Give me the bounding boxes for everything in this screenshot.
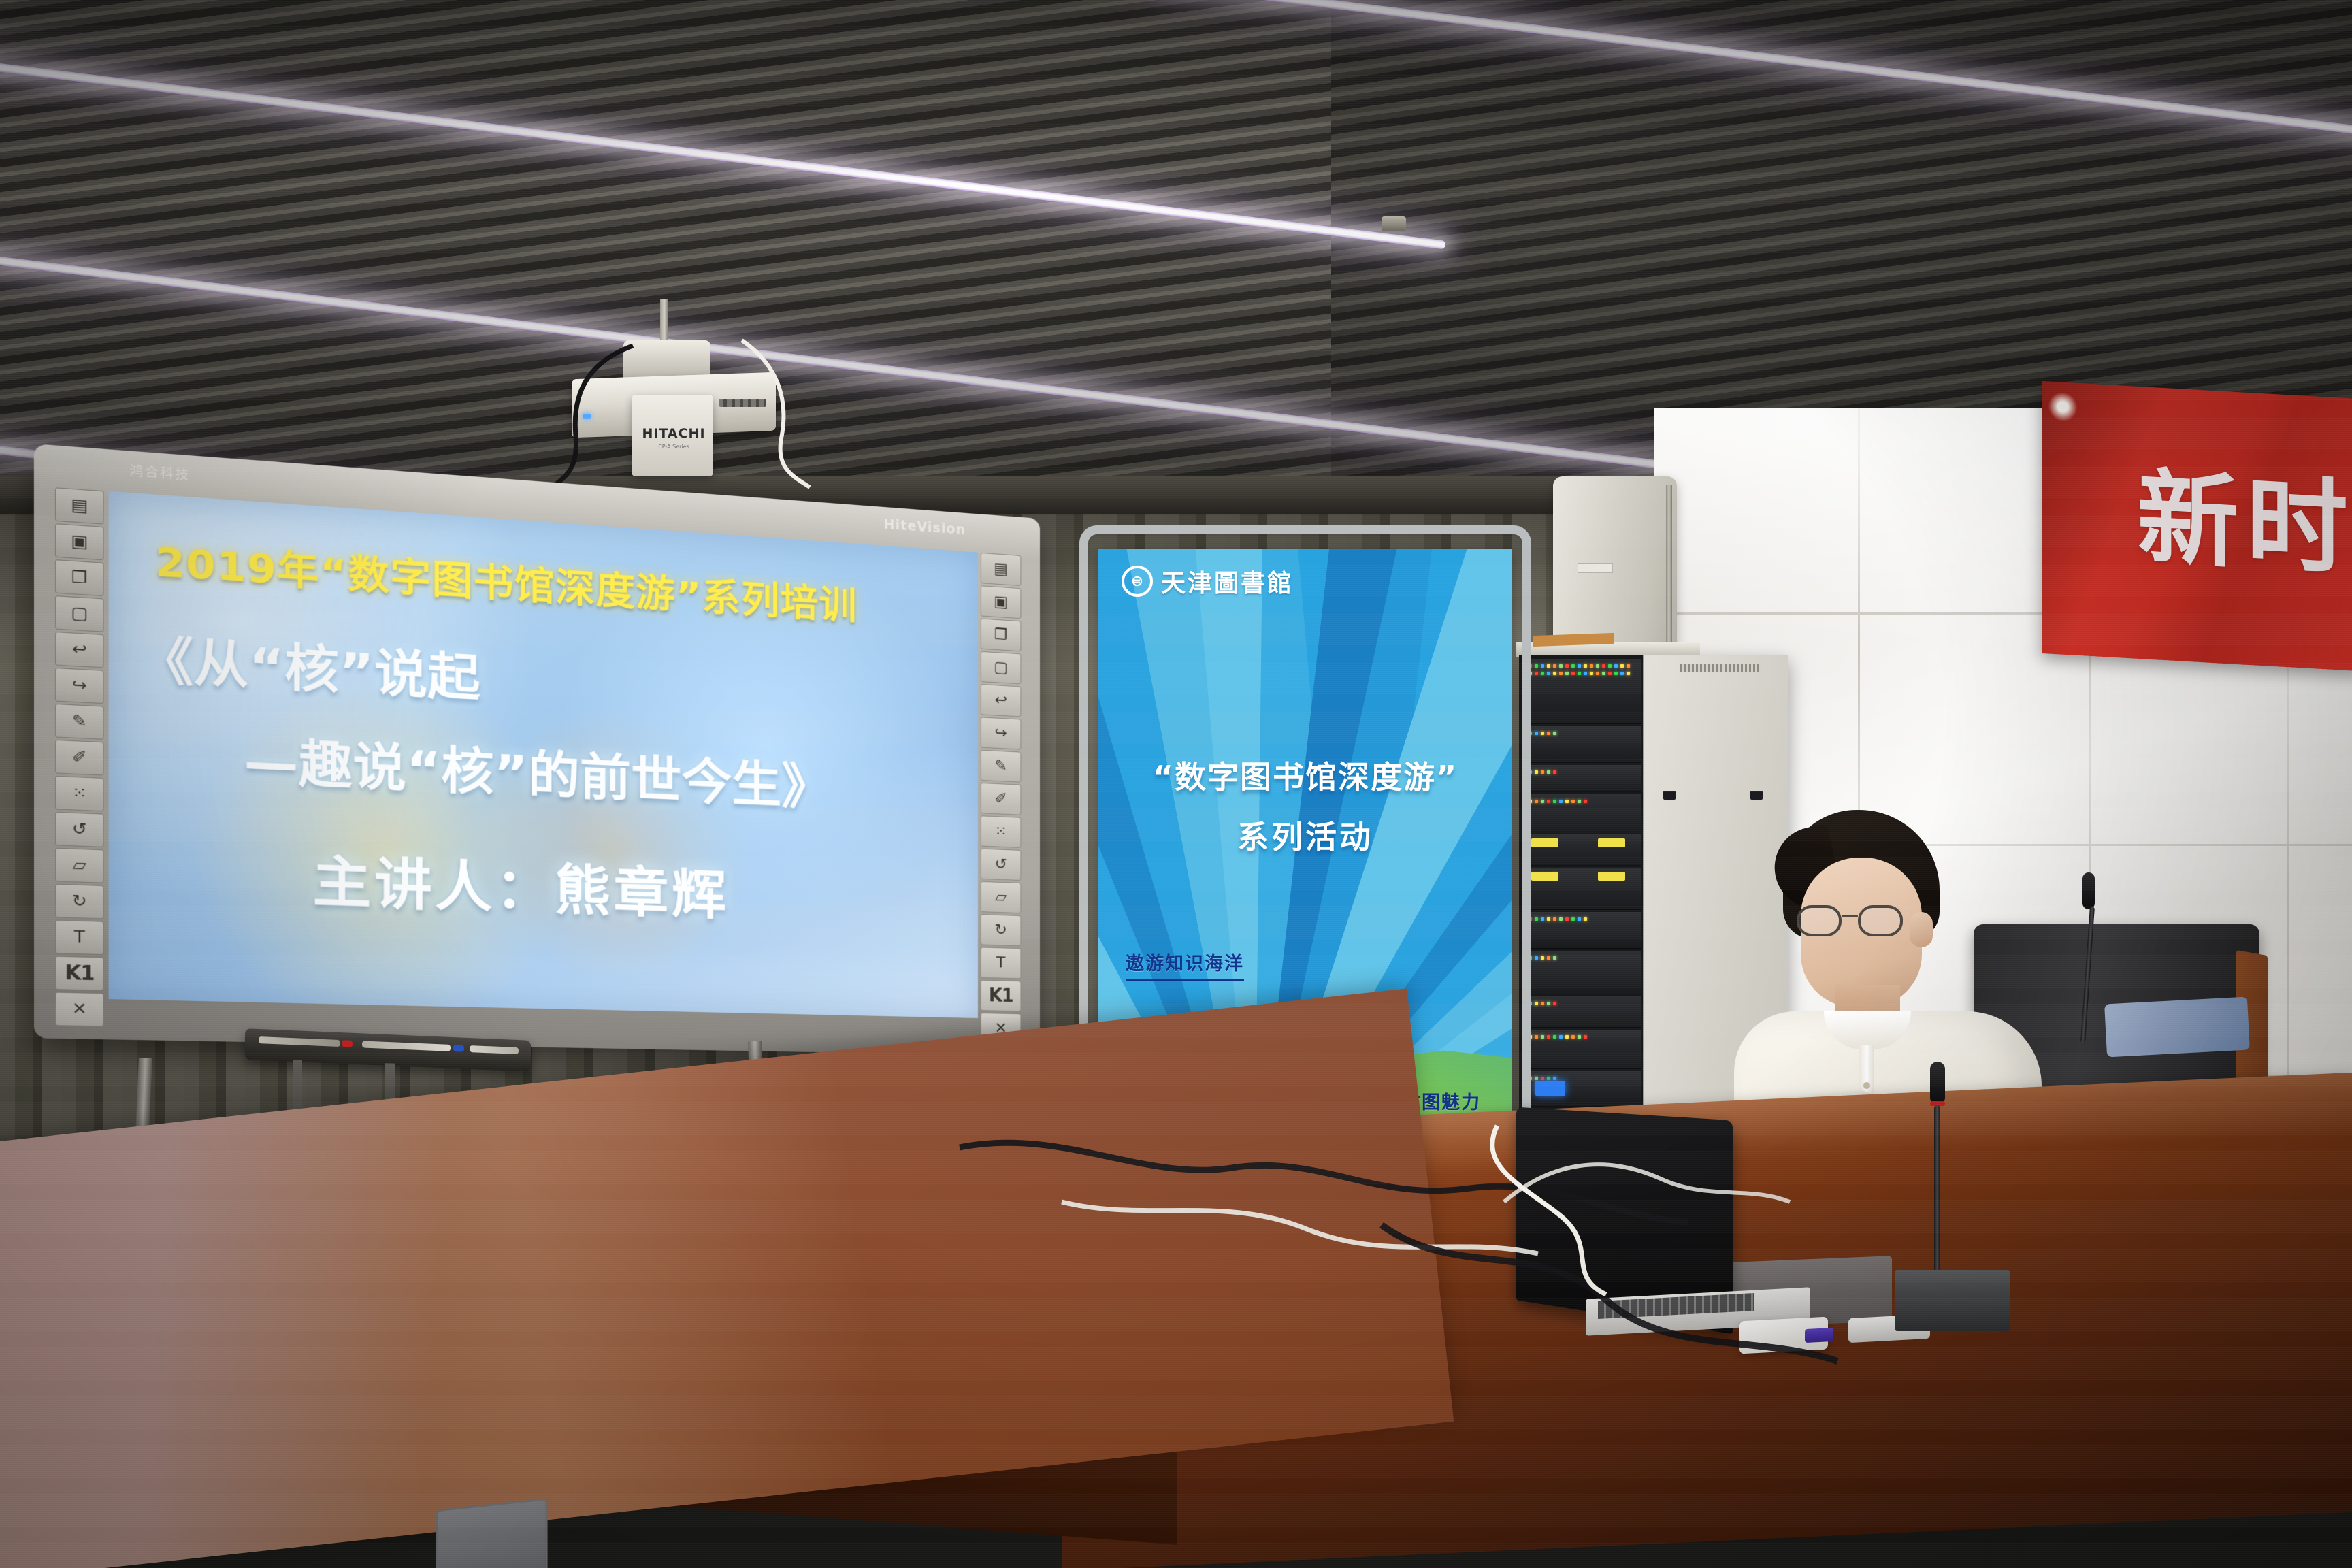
next-page-icon[interactable]: ↪	[55, 668, 103, 704]
rack-status-led	[1608, 672, 1612, 675]
rack-status-led	[1553, 732, 1556, 735]
rack-status-led	[1553, 1035, 1556, 1039]
rack-label-tag	[1531, 872, 1558, 881]
whiteboard-brand-right: HiteVision	[883, 517, 966, 538]
pen-icon[interactable]: ✐	[981, 783, 1021, 815]
text-select-icon[interactable]: T	[55, 920, 103, 955]
copy-page-icon[interactable]: ❐	[981, 618, 1021, 651]
rack-status-led	[1541, 664, 1544, 668]
rack-status-led	[1578, 672, 1581, 675]
eraser-icon[interactable]: ▱	[55, 848, 103, 883]
rack-status-led	[1596, 664, 1599, 668]
rack-status-led	[1553, 664, 1556, 668]
rack-status-led	[1627, 664, 1630, 668]
rack-status-led	[1535, 1002, 1538, 1005]
rack-status-led	[1553, 1002, 1556, 1005]
rack-status-led	[1553, 917, 1556, 921]
rack-status-led	[1584, 917, 1587, 921]
rack-status-led	[1535, 770, 1538, 774]
banner-tie-icon	[2047, 392, 2078, 421]
new-page-icon[interactable]: ▢	[55, 595, 103, 632]
rack-status-led	[1535, 800, 1538, 803]
rack-label-tag	[1598, 872, 1625, 881]
paint-bucket-icon[interactable]: ✎	[981, 750, 1021, 783]
rack-status-led	[1535, 917, 1538, 921]
rack-status-led	[1541, 672, 1544, 675]
pen-black-icon[interactable]	[362, 1041, 451, 1051]
rack-unit	[1522, 834, 1641, 866]
rack-status-led	[1547, 917, 1550, 921]
rack-status-led	[1553, 800, 1556, 803]
rack-lcd-display	[1535, 1081, 1565, 1096]
prev-page-icon[interactable]: ↩	[981, 684, 1021, 717]
shirt-button-icon	[1863, 1082, 1870, 1089]
slide-line-2: —趣说“核”的前世今生》	[244, 721, 830, 820]
red-banner-text: 新时	[2137, 467, 2352, 581]
rack-status-led	[1571, 800, 1575, 803]
undo-icon[interactable]: ↺	[55, 812, 103, 847]
rack-status-led	[1547, 1035, 1550, 1039]
copy-page-icon[interactable]: ❐	[55, 559, 103, 596]
rack-status-led	[1553, 672, 1556, 675]
rack-unit	[1522, 868, 1641, 910]
rack-unit	[1522, 794, 1641, 832]
gooseneck-microphone[interactable]	[2050, 872, 2131, 1077]
rack-status-led	[1614, 672, 1618, 675]
books-icon[interactable]: ▤	[55, 487, 103, 524]
rack-status-led	[1535, 1035, 1538, 1039]
rack-vent-icon	[1680, 664, 1761, 672]
rack-status-led	[1559, 800, 1563, 803]
rack-status-led	[1547, 732, 1550, 735]
rack-status-led	[1535, 672, 1538, 675]
new-page-icon[interactable]: ▢	[981, 651, 1021, 685]
undo-icon[interactable]: ↺	[981, 849, 1021, 881]
rack-status-led	[1541, 800, 1544, 803]
interactive-whiteboard[interactable]: 鸿合科技 HiteVision 2019年“数字图书馆深度游”系列培训 《从“核…	[34, 444, 1040, 1056]
rack-status-led	[1565, 800, 1569, 803]
rack-status-led	[1547, 1002, 1550, 1005]
rack-status-led	[1547, 800, 1550, 803]
rack-unit	[1522, 659, 1641, 724]
rack-unit	[1522, 951, 1641, 994]
keyboard-k1-button[interactable]: K1	[55, 956, 103, 991]
redo-icon[interactable]: ↻	[981, 914, 1021, 946]
rack-status-led	[1559, 1035, 1563, 1039]
books-icon[interactable]: ▤	[981, 553, 1021, 586]
rack-status-led	[1541, 1002, 1544, 1005]
rack-lock-icon[interactable]	[1663, 791, 1676, 800]
rack-status-led	[1578, 800, 1581, 803]
keyboard-k1-button[interactable]: K1	[981, 980, 1021, 1012]
rack-status-led	[1553, 770, 1556, 774]
charger-cable-icon	[1484, 1105, 1824, 1323]
rack-status-led	[1553, 1077, 1556, 1080]
save-icon[interactable]: ▣	[981, 585, 1021, 619]
rack-status-led	[1571, 672, 1575, 675]
redo-icon[interactable]: ↻	[55, 884, 103, 919]
rack-status-led	[1578, 1035, 1581, 1039]
rack-status-led	[1541, 732, 1544, 735]
rack-status-led	[1559, 917, 1563, 921]
rack-status-led	[1590, 672, 1593, 675]
rack-status-led	[1541, 770, 1544, 774]
close-icon[interactable]: ✕	[55, 992, 103, 1027]
paint-bucket-icon[interactable]: ✎	[55, 704, 103, 740]
rack-status-led	[1596, 672, 1599, 675]
cable-port-cover[interactable]	[436, 1498, 547, 1568]
rack-status-led	[1547, 672, 1550, 675]
rack-status-led	[1565, 917, 1569, 921]
whiteboard-frame: 鸿合科技 HiteVision 2019年“数字图书馆深度游”系列培训 《从“核…	[34, 444, 1040, 1056]
rack-status-led	[1565, 672, 1569, 675]
rack-status-led	[1584, 672, 1587, 675]
rack-status-led	[1535, 732, 1538, 735]
eraser-block-icon[interactable]	[470, 1045, 519, 1054]
rack-equipment-bay	[1519, 655, 1646, 1179]
slide-title: 2019年“数字图书馆深度游”系列培训	[155, 529, 925, 635]
save-icon[interactable]: ▣	[55, 523, 103, 560]
rack-status-led	[1627, 672, 1630, 675]
rack-status-led	[1559, 664, 1563, 668]
rack-status-led	[1578, 664, 1581, 668]
rack-status-led	[1565, 664, 1569, 668]
projector-cable-icon	[531, 340, 667, 490]
options-icon[interactable]: ⁙	[55, 776, 103, 811]
red-wall-banner: 新时	[2042, 381, 2352, 671]
rack-status-led	[1602, 672, 1605, 675]
whiteboard-toolbar-right[interactable]: ▤▣❐▢↩↪✎✐⁙↺▱↻TK1✕	[981, 553, 1022, 1045]
whiteboard-toolbar-left[interactable]: ▤▣❐▢↩↪✎✐⁙↺▱↻TK1✕	[55, 487, 105, 1026]
rack-status-led	[1535, 956, 1538, 960]
pen-white-icon[interactable]	[259, 1036, 340, 1047]
rack-label-tag	[1531, 838, 1558, 847]
rack-unit	[1522, 765, 1641, 792]
rack-status-led	[1565, 1035, 1569, 1039]
rack-status-led	[1584, 1035, 1587, 1039]
pen-icon[interactable]: ✐	[55, 740, 103, 776]
rack-status-led	[1578, 917, 1581, 921]
projection-screen[interactable]: 2019年“数字图书馆深度游”系列培训 《从“核”说起 —趣说“核”的前世今生》…	[109, 491, 978, 1018]
projector-cable-icon	[728, 336, 851, 493]
rack-status-led	[1535, 664, 1538, 668]
rack-unit	[1522, 1030, 1641, 1069]
rack-status-led	[1571, 917, 1575, 921]
rack-status-led	[1590, 664, 1593, 668]
ac-brand-badge	[1578, 563, 1613, 573]
rack-status-led	[1608, 664, 1612, 668]
rack-label-tag	[1598, 838, 1625, 847]
prev-page-icon[interactable]: ↩	[55, 632, 103, 668]
options-icon[interactable]: ⁙	[981, 815, 1021, 848]
rack-status-led	[1541, 956, 1544, 960]
rack-status-led	[1614, 664, 1618, 668]
rack-unit	[1522, 1071, 1641, 1107]
rack-unit	[1522, 996, 1641, 1028]
rack-status-led	[1547, 770, 1550, 774]
rack-status-led	[1547, 956, 1550, 960]
text-select-icon[interactable]: T	[981, 947, 1021, 979]
rack-status-led	[1541, 917, 1544, 921]
rack-status-led	[1547, 1077, 1550, 1080]
rack-unit	[1522, 726, 1641, 763]
room-photo-scene: 新时 HITACHI CP-A Series	[0, 0, 2352, 1568]
pen-red-icon[interactable]	[342, 1040, 353, 1047]
eyeglasses-icon	[1797, 905, 1919, 936]
rack-status-led	[1571, 664, 1575, 668]
rack-status-led	[1559, 672, 1563, 675]
rack-status-led	[1571, 1035, 1575, 1039]
rack-status-led	[1620, 672, 1624, 675]
eraser-icon[interactable]: ▱	[981, 881, 1021, 913]
rack-unit	[1522, 912, 1641, 949]
rack-status-led	[1541, 1077, 1544, 1080]
next-page-icon[interactable]: ↪	[981, 717, 1021, 749]
whiteboard-brand-left: 鸿合科技	[129, 460, 190, 483]
rack-status-led	[1541, 1035, 1544, 1039]
slide-line-3: 主讲人：熊章辉	[312, 836, 729, 930]
rack-status-led	[1602, 664, 1605, 668]
rack-status-led	[1584, 664, 1587, 668]
slide-line-1: 《从“核”说起	[137, 619, 480, 711]
rack-status-led	[1620, 664, 1624, 668]
rack-status-led	[1584, 800, 1587, 803]
rack-status-led	[1553, 956, 1556, 960]
rack-status-led	[1535, 1077, 1538, 1080]
pen-blue-icon[interactable]	[453, 1045, 464, 1052]
rack-status-led	[1547, 664, 1550, 668]
rack-lock-icon[interactable]	[1750, 791, 1763, 800]
